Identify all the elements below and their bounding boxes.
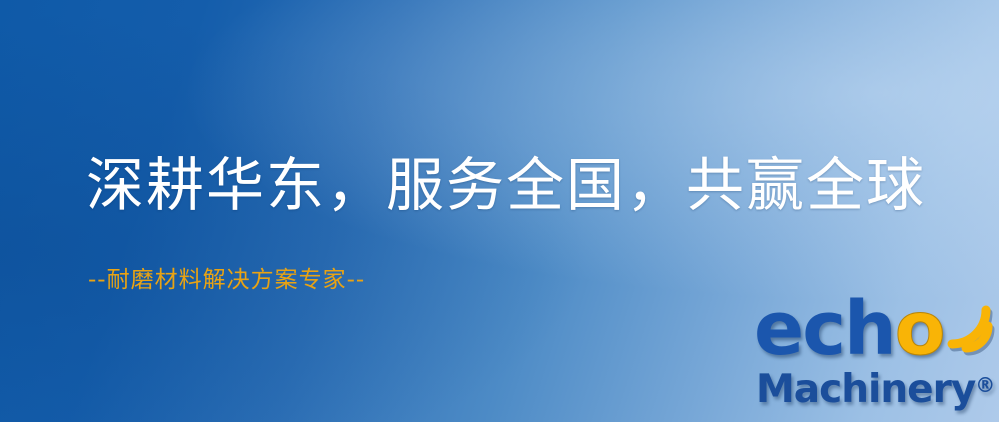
echo-wave-icon — [926, 286, 999, 366]
logo-subtitle-wrap: Machinery® — [756, 364, 995, 411]
logo-wordmark: echo — [754, 292, 944, 366]
logo-subtitle: Machinery — [756, 367, 975, 412]
promo-banner: 深耕华东，服务全国，共赢全球 --耐磨材料解决方案专家-- echo Machi… — [0, 0, 999, 422]
banner-subtitle: --耐磨材料解决方案专家-- — [88, 265, 365, 295]
echo-machinery-logo[interactable]: echo Machinery® — [748, 292, 999, 420]
registered-trademark-icon: ® — [975, 373, 995, 397]
logo-word-prefix: ech — [754, 286, 895, 372]
banner-headline: 深耕华东，服务全国，共赢全球 — [86, 152, 926, 220]
